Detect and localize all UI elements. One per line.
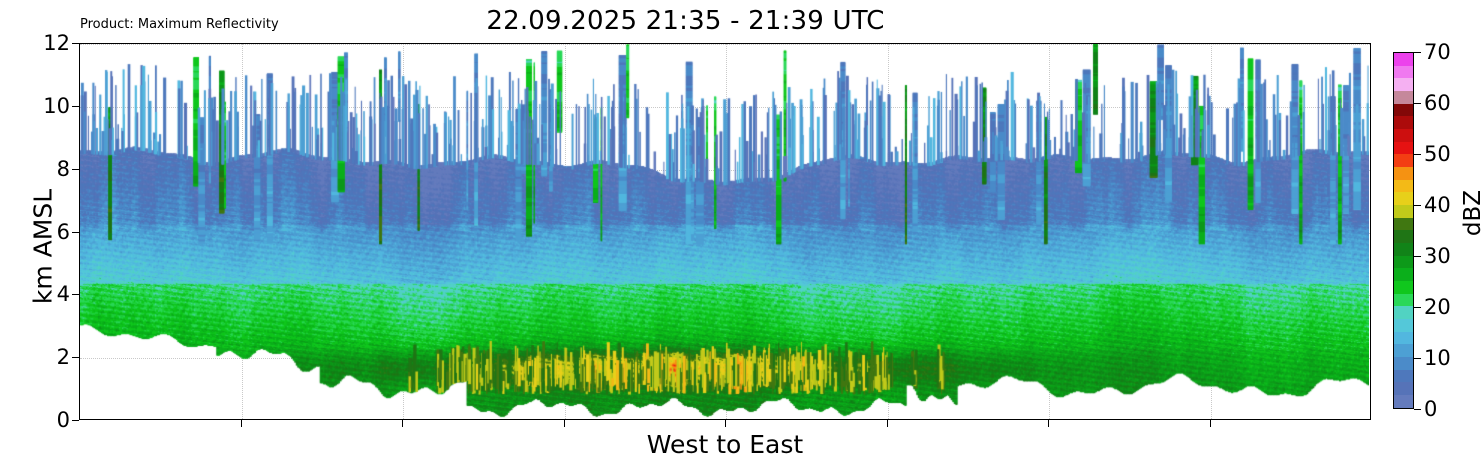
colorbar-band [1394, 142, 1413, 155]
x-tick-mark [241, 420, 242, 427]
colorbar-tick-label: 40 [1424, 193, 1451, 217]
y-axis-title: km AMSL [29, 152, 58, 342]
colorbar-band [1394, 91, 1413, 104]
colorbar-band [1394, 167, 1413, 180]
colorbar-tick-label: 10 [1424, 346, 1451, 370]
colorbar-tick-mark [1414, 103, 1421, 104]
reflectivity-heatmap [80, 44, 1369, 418]
colorbar-title: dBZ [1460, 148, 1482, 278]
colorbar [1393, 52, 1414, 409]
x-tick-mark [887, 420, 888, 427]
colorbar-band [1394, 332, 1413, 345]
colorbar-band [1394, 370, 1413, 383]
y-tick-label: 2 [0, 345, 70, 369]
colorbar-band [1394, 357, 1413, 370]
colorbar-tick-mark [1414, 205, 1421, 206]
y-tick-mark [72, 294, 79, 295]
colorbar-band [1394, 192, 1413, 205]
colorbar-band [1394, 218, 1413, 231]
colorbar-tick-label: 30 [1424, 244, 1451, 268]
colorbar-tick-mark [1414, 52, 1421, 53]
colorbar-tick-mark [1414, 409, 1421, 410]
colorbar-band [1394, 294, 1413, 307]
colorbar-tick-label: 70 [1424, 40, 1451, 64]
product-label: Product: Maximum Reflectivity [80, 17, 279, 32]
y-tick-mark [72, 106, 79, 107]
colorbar-band [1394, 66, 1413, 79]
colorbar-tick-label: 20 [1424, 295, 1451, 319]
x-tick-mark [1048, 420, 1049, 427]
colorbar-band [1394, 382, 1413, 395]
plot-area [79, 43, 1371, 420]
x-tick-mark [402, 420, 403, 427]
y-tick-mark [72, 420, 79, 421]
colorbar-tick-mark [1414, 256, 1421, 257]
y-tick-mark [72, 43, 79, 44]
y-tick-mark [72, 169, 79, 170]
colorbar-band [1394, 129, 1413, 142]
x-tick-mark [725, 420, 726, 427]
y-tick-label: 10 [0, 94, 70, 118]
y-tick-label: 12 [0, 31, 70, 55]
colorbar-tick-mark [1414, 358, 1421, 359]
colorbar-band [1394, 205, 1413, 218]
colorbar-band [1394, 53, 1413, 66]
colorbar-band [1394, 104, 1413, 117]
colorbar-tick-mark [1414, 154, 1421, 155]
x-tick-mark [564, 420, 565, 427]
colorbar-band [1394, 344, 1413, 357]
colorbar-tick-mark [1414, 307, 1421, 308]
colorbar-band [1394, 78, 1413, 91]
colorbar-tick-label: 60 [1424, 91, 1451, 115]
y-tick-mark [72, 232, 79, 233]
colorbar-band [1394, 180, 1413, 193]
y-tick-label: 0 [0, 408, 70, 432]
colorbar-band [1394, 395, 1413, 408]
colorbar-tick-label: 0 [1424, 397, 1437, 421]
colorbar-band [1394, 319, 1413, 332]
colorbar-band [1394, 230, 1413, 243]
colorbar-band [1394, 116, 1413, 129]
x-axis-title: West to East [79, 430, 1371, 459]
colorbar-tick-label: 50 [1424, 142, 1451, 166]
colorbar-band [1394, 154, 1413, 167]
colorbar-band [1394, 268, 1413, 281]
colorbar-band [1394, 306, 1413, 319]
colorbar-band [1394, 243, 1413, 256]
colorbar-band [1394, 281, 1413, 294]
y-tick-mark [72, 357, 79, 358]
colorbar-band [1394, 256, 1413, 269]
x-tick-mark [1210, 420, 1211, 427]
